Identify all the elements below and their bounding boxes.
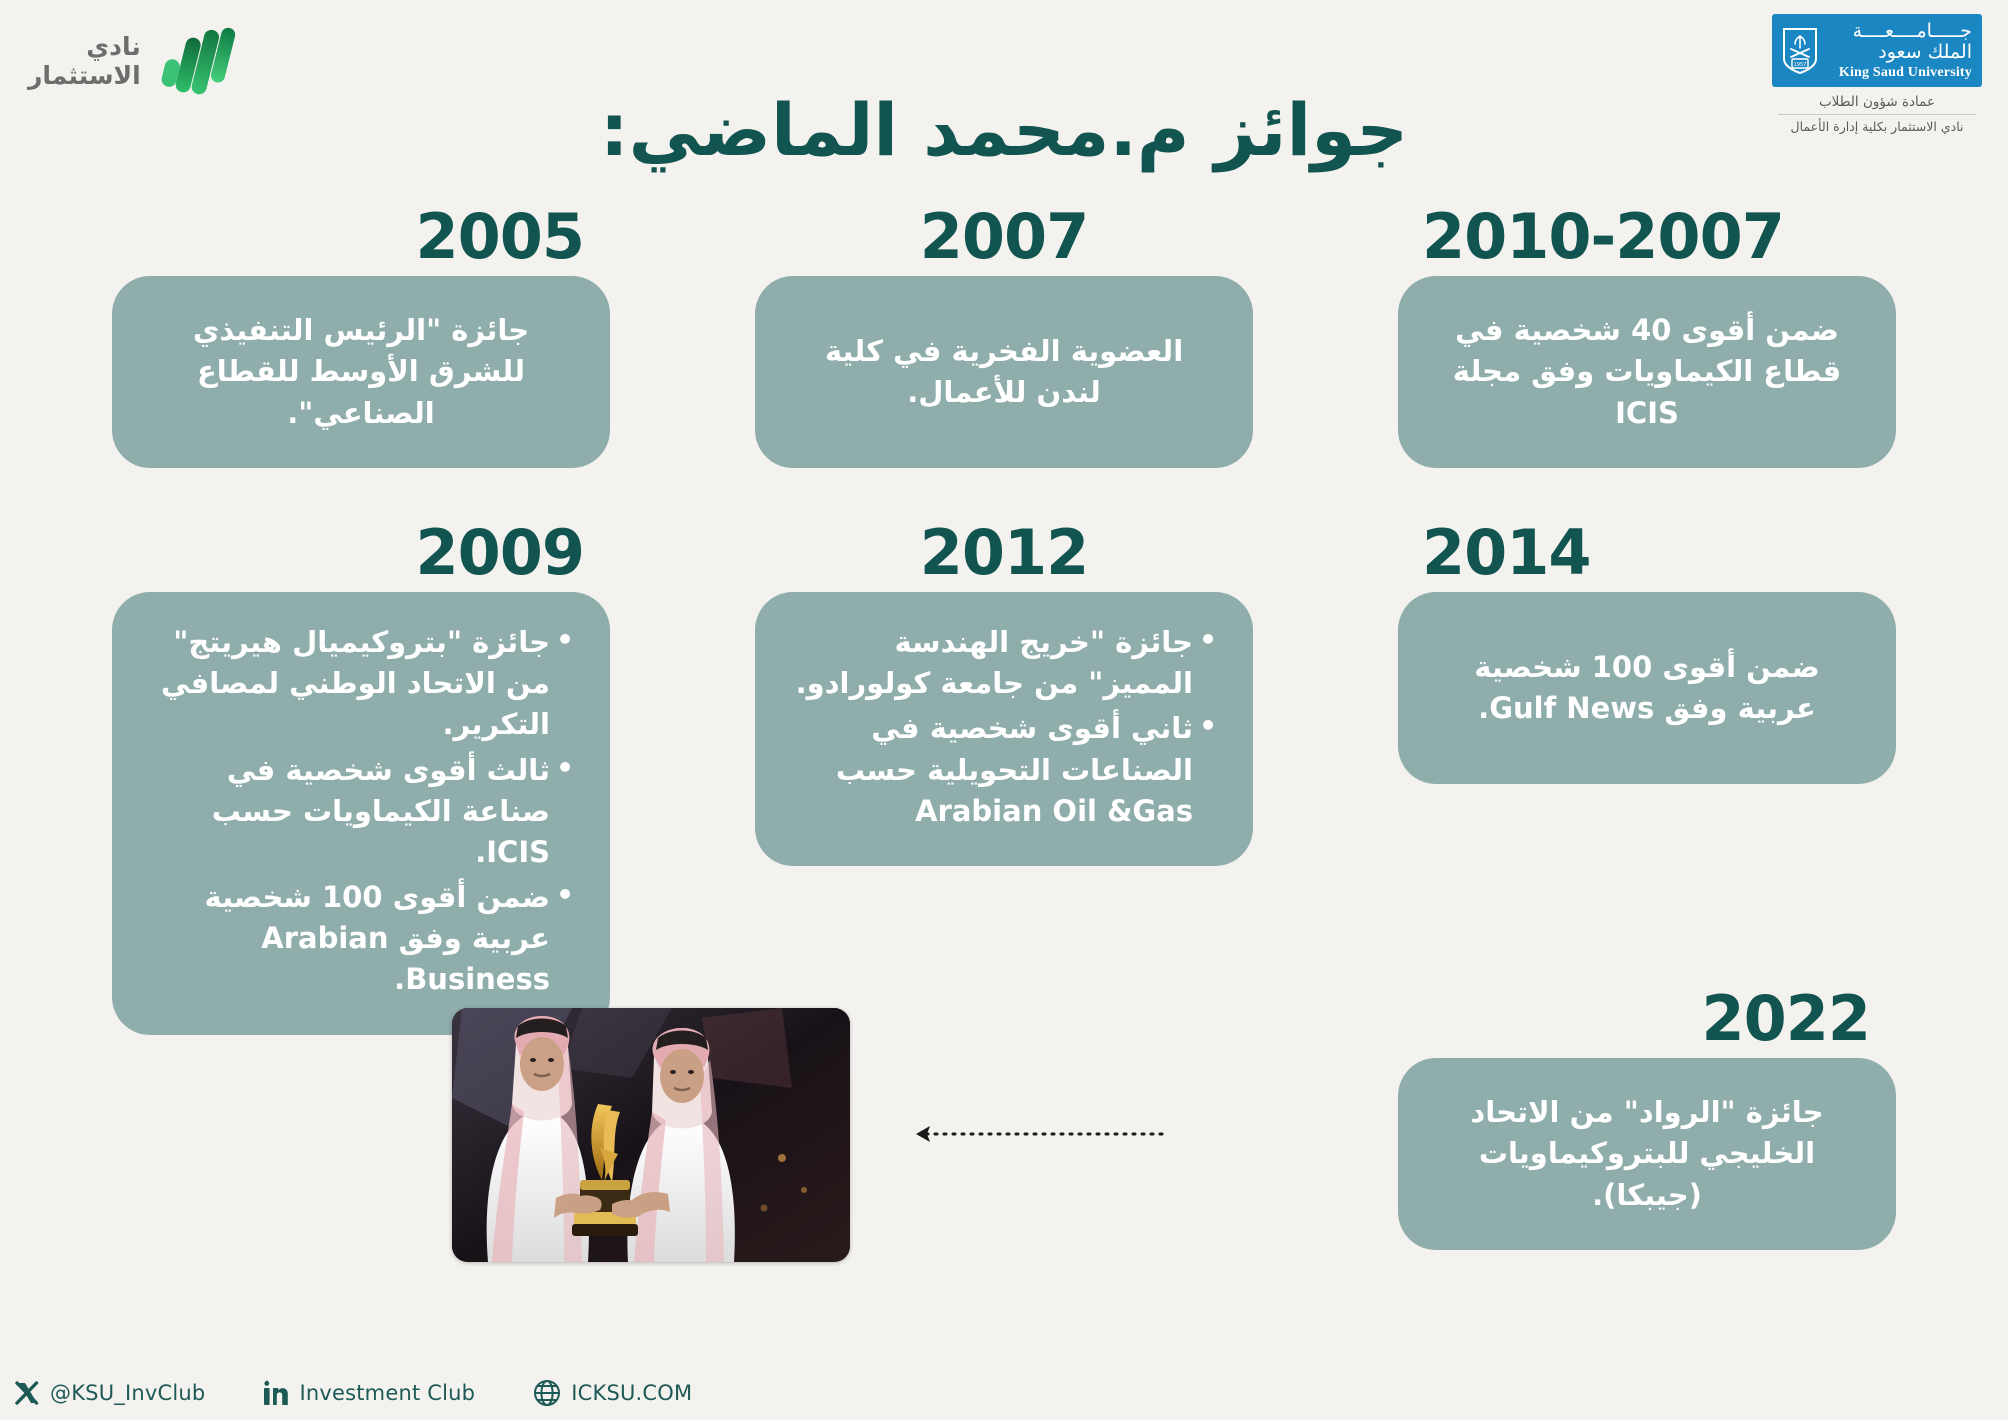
page-title: جوائز م.محمد الماضي: <box>0 88 2008 172</box>
award-cell-2014: 2014 ضمن أقوى 100 شخصية عربية وفق Gulf N… <box>1398 522 1896 784</box>
award-text-2007-2010: ضمن أقوى 40 شخصية في قطاع الكيماويات وفق… <box>1432 310 1862 434</box>
award-bullet-list-2012: جائزة "خريج الهندسة المميز" من جامعة كول… <box>789 622 1219 832</box>
poster-canvas: نادي الاستثمار جـــــامــــعــــة الملك … <box>0 0 2008 1420</box>
award-card-2007[interactable]: العضوية الفخرية في كلية لندن للأعمال. <box>755 276 1253 468</box>
dotted-left-arrow-icon <box>898 1123 1166 1145</box>
awards-row-2: 2014 ضمن أقوى 100 شخصية عربية وفق Gulf N… <box>112 522 1896 1035</box>
award-card-2012[interactable]: جائزة "خريج الهندسة المميز" من جامعة كول… <box>755 592 1253 866</box>
award-text-2014: ضمن أقوى 100 شخصية عربية وفق Gulf News. <box>1432 647 1862 729</box>
social-website-label: ICKSU.COM <box>571 1381 692 1405</box>
award-card-2009[interactable]: جائزة "بتروكيميال هيريتج" من الاتحاد الو… <box>112 592 610 1035</box>
list-item: جائزة "خريج الهندسة المميز" من جامعة كول… <box>789 622 1219 704</box>
award-text-2005: جائزة "الرئيس التنفيذي للشرق الأوسط للقط… <box>146 310 576 434</box>
ksu-arabic-line1: جـــــامــــعــــة <box>1826 21 1972 42</box>
award-card-2014[interactable]: ضمن أقوى 100 شخصية عربية وفق Gulf News. <box>1398 592 1896 784</box>
award-year-2014: 2014 <box>1398 522 1896 590</box>
list-item: ثالث أقوى شخصية في صناعة الكيماويات حسب … <box>146 750 576 874</box>
award-cell-2022: 2022 جائزة "الرواد" من الاتحاد الخليجي ل… <box>1398 988 1896 1250</box>
social-x-twitter[interactable]: @KSU_InvClub <box>14 1380 205 1406</box>
club-logo-line2: الاستثمار <box>28 61 141 91</box>
awards-row-1: 2010-2007 ضمن أقوى 40 شخصية في قطاع الكي… <box>112 206 1896 468</box>
svg-text:1957: 1957 <box>1794 62 1807 68</box>
ksu-english-name: King Saud University <box>1826 65 1972 81</box>
ksu-wordmark: جـــــامــــعــــة الملك سعود King Saud … <box>1826 21 1972 81</box>
social-website[interactable]: ICKSU.COM <box>533 1379 692 1407</box>
palm-and-swords-shield-icon: 1957 <box>1782 27 1818 75</box>
award-year-2007: 2007 <box>755 206 1253 274</box>
ksu-arabic-line2: الملك سعود <box>1826 42 1972 64</box>
linkedin-icon <box>263 1380 289 1406</box>
awards-grid: 2010-2007 ضمن أقوى 40 شخصية في قطاع الكي… <box>112 206 1896 1035</box>
globe-icon <box>533 1379 561 1407</box>
award-card-2007-2010[interactable]: ضمن أقوى 40 شخصية في قطاع الكيماويات وفق… <box>1398 276 1896 468</box>
club-logo-wordmark: نادي الاستثمار <box>28 32 141 91</box>
list-item: ضمن أقوى 100 شخصية عربية وفق Arabian Bus… <box>146 877 576 1001</box>
award-text-2007: العضوية الفخرية في كلية لندن للأعمال. <box>789 331 1219 413</box>
award-cell-2009: 2009 جائزة "بتروكيميال هيريتج" من الاتحا… <box>112 522 610 1035</box>
award-year-2007-2010: 2010-2007 <box>1398 206 1896 274</box>
award-year-2005: 2005 <box>112 206 610 274</box>
award-cell-2007: 2007 العضوية الفخرية في كلية لندن للأعما… <box>755 206 1253 468</box>
award-cell-2005: 2005 جائزة "الرئيس التنفيذي للشرق الأوسط… <box>112 206 610 468</box>
award-card-2022[interactable]: جائزة "الرواد" من الاتحاد الخليجي للبترو… <box>1398 1058 1896 1250</box>
award-text-2022: جائزة "الرواد" من الاتحاد الخليجي للبترو… <box>1432 1092 1862 1216</box>
award-year-2022: 2022 <box>1398 988 1896 1056</box>
bottom-section: 2022 جائزة "الرواد" من الاتحاد الخليجي ل… <box>112 1008 1896 1338</box>
award-card-2005[interactable]: جائزة "الرئيس التنفيذي للشرق الأوسط للقط… <box>112 276 610 468</box>
award-ceremony-image <box>452 1008 850 1262</box>
list-item: جائزة "بتروكيميال هيريتج" من الاتحاد الو… <box>146 622 576 746</box>
award-ceremony-photo <box>452 1008 850 1262</box>
social-linkedin[interactable]: Investment Club <box>263 1380 475 1406</box>
award-cell-2007-2010: 2010-2007 ضمن أقوى 40 شخصية في قطاع الكي… <box>1398 206 1896 468</box>
social-linkedin-label: Investment Club <box>299 1381 475 1405</box>
award-year-2012: 2012 <box>755 522 1253 590</box>
award-bullet-list-2009: جائزة "بتروكيميال هيريتج" من الاتحاد الو… <box>146 622 576 1001</box>
social-x-label: @KSU_InvClub <box>50 1381 205 1405</box>
award-year-2009: 2009 <box>112 522 610 590</box>
award-cell-2012: 2012 جائزة "خريج الهندسة المميز" من جامع… <box>755 522 1253 866</box>
list-item: ثاني أقوى شخصية في الصناعات التحويلية حس… <box>789 708 1219 832</box>
footer-social-bar: @KSU_InvClub Investment Club ICKSU.COM <box>0 1366 2008 1420</box>
ksu-logo-box: جـــــامــــعــــة الملك سعود King Saud … <box>1772 14 1982 87</box>
x-twitter-icon <box>14 1380 40 1406</box>
club-logo-line1: نادي <box>28 32 141 62</box>
